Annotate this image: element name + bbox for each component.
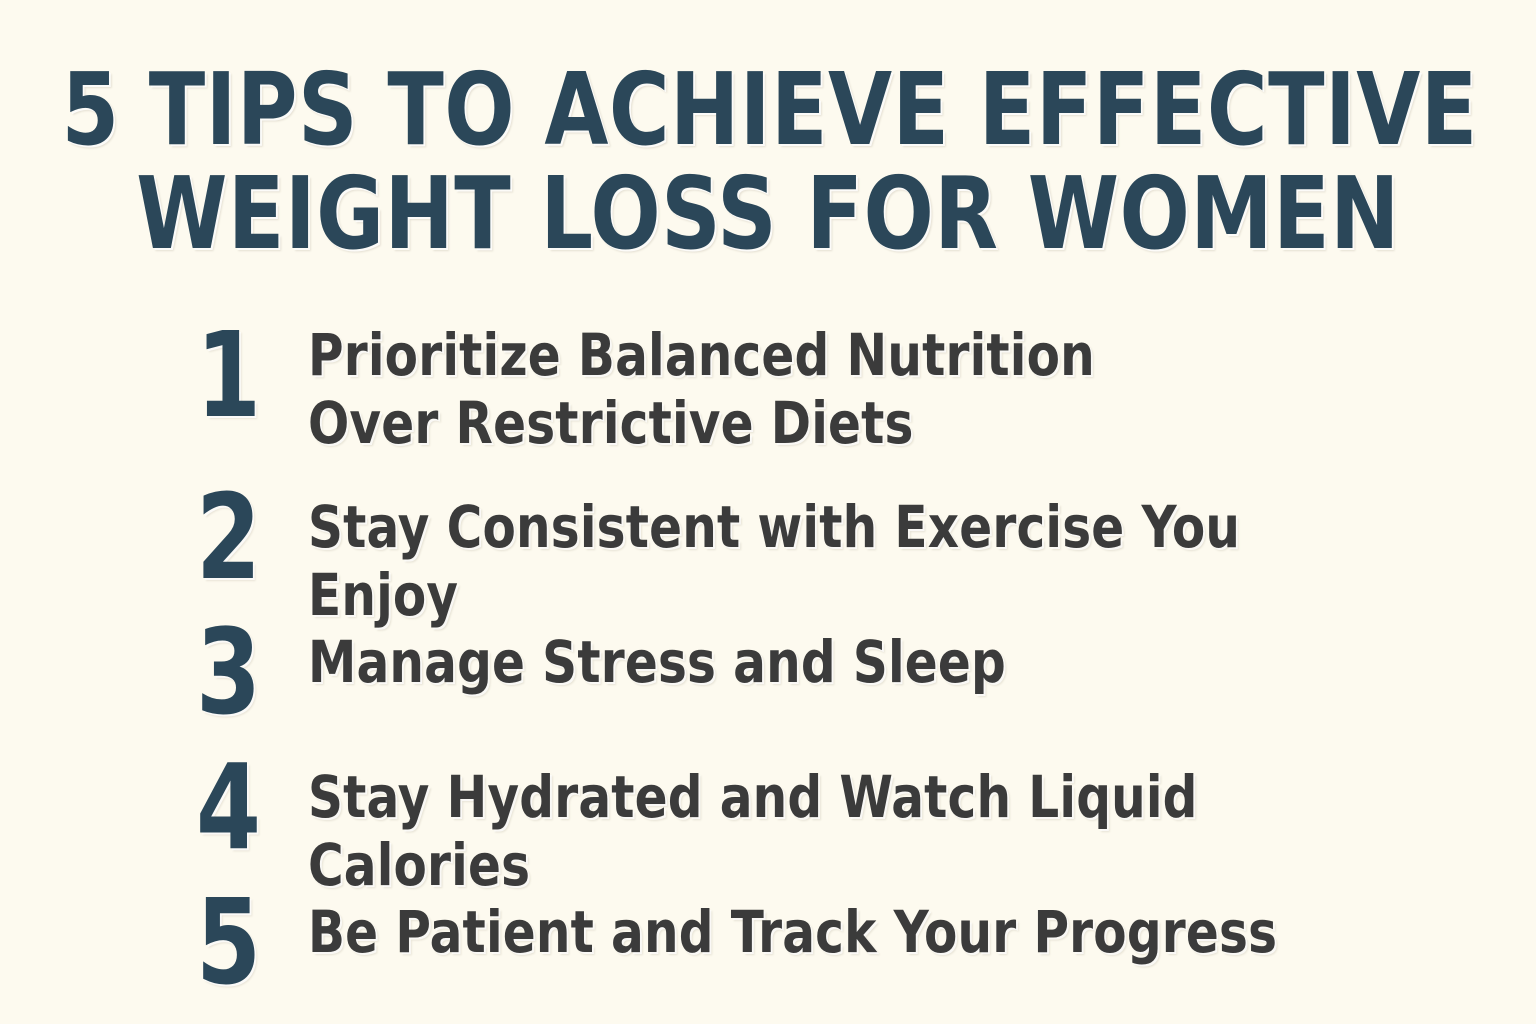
list-item: 5 Be Patient and Track Your Progress (196, 880, 1476, 1015)
tip-number-1: 1 (196, 305, 295, 431)
tip-text-2: Stay Consistent with Exercise You Enjoy (308, 475, 1394, 629)
tip-number-5: 5 (196, 880, 295, 998)
list-item: 1 Prioritize Balanced Nutrition Over Res… (196, 305, 1476, 475)
tip-text-1: Prioritize Balanced Nutrition Over Restr… (308, 305, 1394, 457)
tip-text-3: Manage Stress and Sleep (308, 610, 1394, 696)
infographic-poster: 5 TIPS TO ACHIEVE EFFECTIVE WEIGHT LOSS … (0, 0, 1536, 1024)
tips-list: 1 Prioritize Balanced Nutrition Over Res… (196, 305, 1476, 1015)
tip-text-5: Be Patient and Track Your Progress (308, 880, 1394, 966)
list-item: 2 Stay Consistent with Exercise You Enjo… (196, 475, 1476, 610)
list-item: 4 Stay Hydrated and Watch Liquid Calorie… (196, 745, 1476, 880)
title-line-1: 5 TIPS TO ACHIEVE EFFECTIVE (61, 58, 1474, 162)
tip-number-4: 4 (196, 745, 295, 863)
tip-number-3: 3 (196, 610, 295, 728)
tip-number-2: 2 (196, 475, 295, 593)
title-line-2: WEIGHT LOSS FOR WOMEN (61, 162, 1474, 266)
page-title: 5 TIPS TO ACHIEVE EFFECTIVE WEIGHT LOSS … (0, 58, 1536, 266)
list-item: 3 Manage Stress and Sleep (196, 610, 1476, 745)
tip-text-4: Stay Hydrated and Watch Liquid Calories (308, 745, 1394, 899)
